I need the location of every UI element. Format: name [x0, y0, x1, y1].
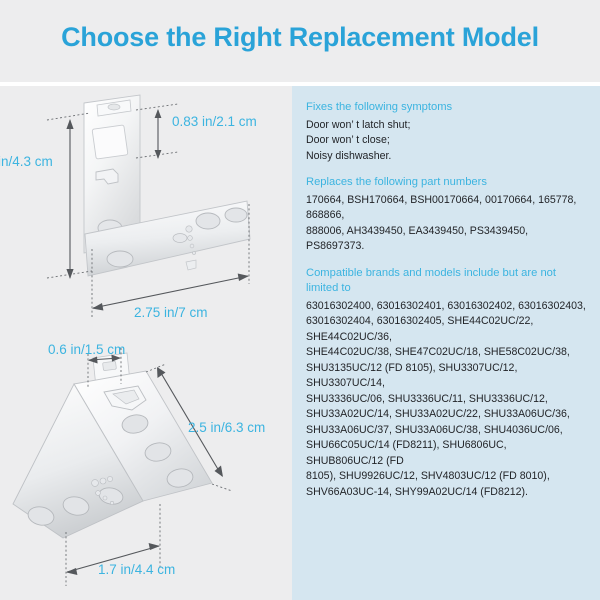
- symptom-item: Door won’ t latch shut;: [306, 118, 586, 134]
- page-title: Choose the Right Replacement Model: [0, 22, 600, 53]
- arrow-width-left: [92, 303, 103, 311]
- arrow-tab-up: [155, 109, 162, 118]
- info-panel: Fixes the following symptoms Door won’ t…: [292, 86, 600, 600]
- base-small-hole-1: [173, 234, 187, 243]
- ext-line-len-bottom: [212, 484, 232, 491]
- base-hole-2: [196, 213, 220, 229]
- base-small-hole-2: [186, 226, 192, 232]
- arrow-len-top: [157, 367, 166, 378]
- arrow-width-right: [238, 274, 249, 282]
- compatibility-line: 63016302400, 63016302401, 63016302402, 6…: [306, 299, 586, 315]
- dim-label-tab-width: 0.6 in/1.5 cm: [48, 342, 125, 357]
- arrow-height-down: [66, 269, 73, 279]
- compatibility-line: SHE44C02UC/38, SHE47C02UC/18, SHE58C02UC…: [306, 345, 586, 361]
- dim-label-width: 2.75 in/7 cm: [134, 305, 208, 320]
- symptoms-heading: Fixes the following symptoms: [306, 100, 586, 116]
- compatibility-line: SHU33A02UC/14, SHU33A02UC/22, SHU33A06UC…: [306, 407, 586, 423]
- compatibility-line: SHU3135UC/12 (FD 8105), SHU3307UC/12, SH…: [306, 361, 586, 392]
- part-numbers-line: 888006, AH3439450, EA3439450, PS3439450,…: [306, 224, 586, 255]
- compatibility-section: Compatible brands and models include but…: [306, 266, 586, 501]
- compatibility-line: 63016302404, 63016302405, SHE44C02UC/22,…: [306, 314, 586, 345]
- dim-label-height: in/4.3 cm: [0, 154, 53, 169]
- base-small-hole-3: [188, 236, 193, 241]
- ext-line-tab-top: [136, 104, 178, 110]
- arrow-len-bottom: [215, 466, 224, 478]
- arrow-basew-right: [149, 543, 160, 550]
- flange-emboss: [92, 125, 128, 159]
- ext-line-len-top: [146, 364, 166, 372]
- dim-label-tab-height: 0.83 in/2.1 cm: [172, 114, 257, 129]
- diagram-bottom-angled-bracket: 0.6 in/1.5 cm 2.5 in/6.3 cm 1.7 in/4.4 c…: [0, 336, 286, 600]
- arrow-height-up: [66, 119, 73, 129]
- header-band: Choose the Right Replacement Model: [0, 0, 600, 82]
- flange-top-slot: [108, 104, 120, 110]
- compatibility-line: SHU33A06UC/37, SHU33A06UC/38, SHU4036UC/…: [306, 423, 586, 439]
- diagram-column: in/4.3 cm 0.83 in/2.1 cm 2.75 in/7 cm: [0, 86, 286, 600]
- base-small-hole-4: [190, 244, 194, 248]
- arrow-tab-down: [155, 150, 162, 159]
- compatibility-line: SHV66A03UC-14, SHY99A02UC/14 (FD8212).: [306, 485, 586, 501]
- lower-arm-small-hole-4: [96, 491, 101, 496]
- compatibility-line: 8105), SHU9926UC/12, SHV4803UC/12 (FD 80…: [306, 469, 586, 485]
- base-hole-3: [225, 208, 247, 222]
- compatibility-heading: Compatible brands and models include but…: [306, 266, 586, 297]
- lower-arm-small-hole-6: [110, 501, 113, 504]
- symptom-item: Noisy dishwasher.: [306, 149, 586, 165]
- symptoms-section: Fixes the following symptoms Door won’ t…: [306, 100, 586, 164]
- upright-tab-slot: [103, 361, 117, 371]
- symptom-item: Door won’ t close;: [306, 133, 586, 149]
- dim-label-length: 2.5 in/6.3 cm: [188, 420, 265, 435]
- part-numbers-section: Replaces the following part numbers 1706…: [306, 175, 586, 255]
- section-spacer: [306, 164, 586, 175]
- dim-line-width: [93, 276, 248, 308]
- lower-arm-small-hole-1: [92, 480, 99, 487]
- compatibility-line: SHU66C05UC/14 (FD8211), SHU6806UC, SHUB8…: [306, 438, 586, 469]
- product-infographic: Choose the Right Replacement Model: [0, 0, 600, 600]
- section-spacer: [306, 255, 586, 266]
- lower-arm-small-hole-5: [103, 496, 107, 500]
- part-numbers-line: 170664, BSH170664, BSH00170664, 00170664…: [306, 193, 586, 224]
- arrow-tabw-left: [88, 357, 98, 364]
- base-hole-1: [107, 251, 133, 267]
- compatibility-line: SHU3336UC/06, SHU3336UC/11, SHU3336UC/12…: [306, 392, 586, 408]
- dim-label-base-width: 1.7 in/4.4 cm: [98, 562, 175, 577]
- base-notch: [186, 260, 196, 270]
- lower-arm-small-hole-2: [100, 478, 106, 484]
- base-small-hole-5: [193, 252, 196, 255]
- lower-arm-small-hole-3: [107, 476, 112, 481]
- part-numbers-heading: Replaces the following part numbers: [306, 175, 586, 191]
- bracket-angled-illustration: [0, 336, 286, 600]
- diagram-top-assembled-bracket: in/4.3 cm 0.83 in/2.1 cm 2.75 in/7 cm: [0, 86, 286, 336]
